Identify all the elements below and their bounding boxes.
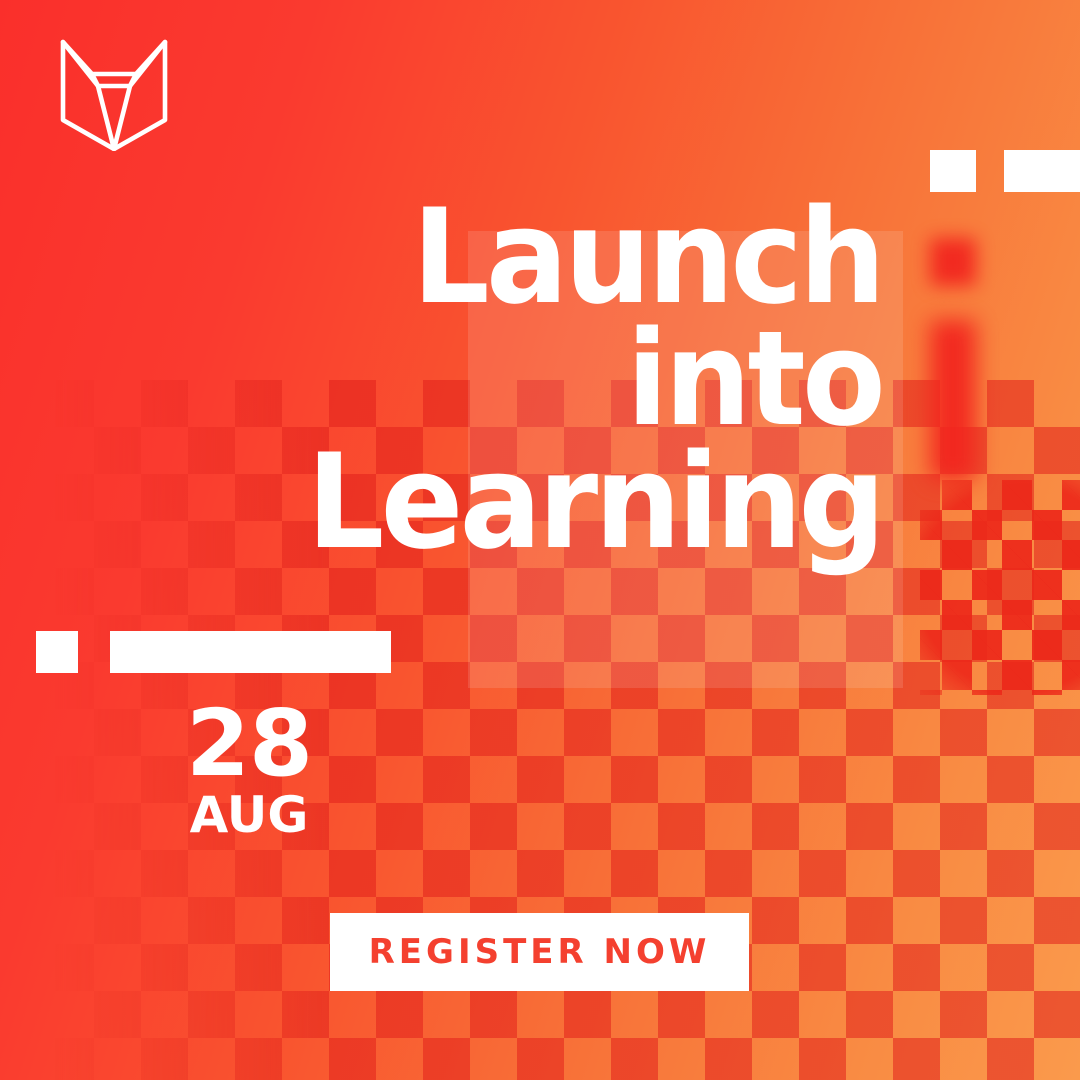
- event-date-day: 28: [186, 700, 312, 788]
- register-now-button[interactable]: REGISTER NOW: [330, 913, 749, 991]
- accent-bar-top-right: [1004, 150, 1080, 192]
- page-title: Launch into Learning: [62, 196, 882, 563]
- accent-bar-left: [110, 631, 391, 673]
- register-now-label: REGISTER NOW: [369, 932, 711, 972]
- accent-square-left: [36, 631, 78, 673]
- event-date: 28 AUG: [186, 700, 312, 840]
- event-date-month: AUG: [186, 790, 312, 840]
- accent-square-top-right: [930, 150, 976, 192]
- diamond-pattern-small: [920, 480, 1080, 695]
- event-poster: Launch into Learning 28 AUG @ECG 101 6:3…: [0, 0, 1080, 1080]
- fox-head-logo-icon: [52, 36, 176, 151]
- red-accent-bar: [930, 320, 976, 480]
- red-accent-square: [930, 238, 976, 286]
- event-details: 28 AUG @ECG 101 6:30PM- 7:30PM: [0, 690, 1080, 870]
